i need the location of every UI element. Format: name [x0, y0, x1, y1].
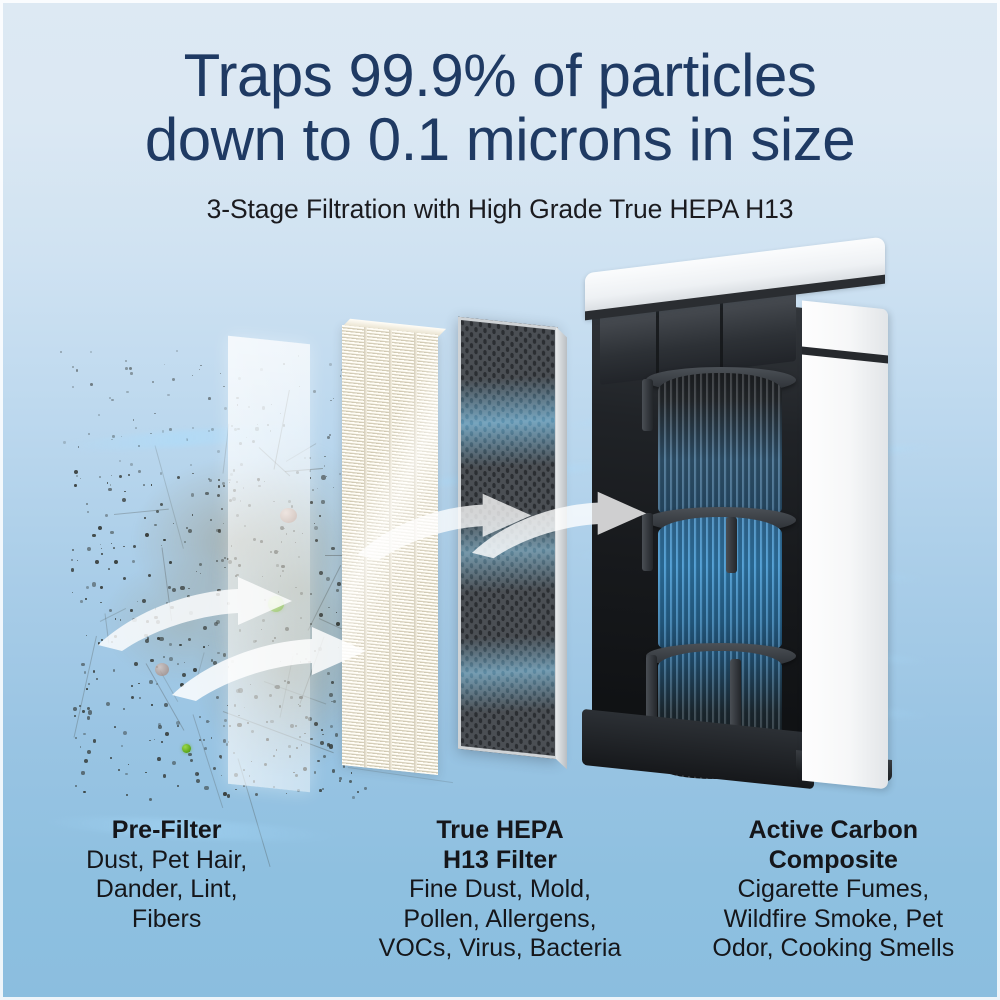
- particle-pollen-small: [182, 744, 191, 753]
- dust-speck: [158, 725, 162, 729]
- dust-speck: [130, 372, 132, 374]
- dust-speck: [126, 794, 128, 796]
- fan-section-middle: [658, 517, 782, 657]
- dust-speck: [95, 560, 99, 564]
- dust-speck: [192, 473, 193, 474]
- dust-speck: [184, 541, 186, 543]
- dust-speck: [167, 394, 170, 397]
- dust-speck: [314, 523, 315, 524]
- dust-speck: [149, 680, 153, 684]
- fan-blades: [658, 517, 782, 657]
- caption-title: Pre-Filter: [6, 816, 327, 845]
- dust-speck: [114, 726, 116, 728]
- dust-speck: [138, 470, 141, 473]
- dust-speck: [196, 571, 197, 572]
- dust-speck: [151, 484, 153, 486]
- dust-speck: [333, 398, 334, 399]
- dust-speck: [335, 733, 338, 736]
- dust-speck: [326, 577, 330, 581]
- dust-speck: [100, 544, 101, 545]
- dust-speck: [74, 715, 76, 717]
- dust-speck: [324, 456, 325, 457]
- caption-title: True HEPA H13 Filter: [339, 816, 660, 875]
- dust-speck: [364, 787, 366, 789]
- dust-speck: [190, 759, 193, 762]
- headline-block: Traps 99.9% of particles down to 0.1 mic…: [0, 44, 1000, 225]
- dust-speck: [87, 716, 90, 719]
- dust-speck: [339, 780, 341, 782]
- dust-speck: [85, 598, 86, 599]
- dust-speck: [317, 760, 319, 762]
- stage-captions: Pre-Filter Dust, Pet Hair, Dander, Lint,…: [0, 816, 1000, 964]
- product-infographic: Traps 99.9% of particles down to 0.1 mic…: [0, 0, 1000, 1000]
- dust-speck: [312, 489, 314, 491]
- page-subtitle: 3-Stage Filtration with High Grade True …: [0, 194, 1000, 225]
- dust-speck: [319, 571, 323, 575]
- dust-speck: [86, 688, 88, 690]
- dust-speck: [108, 568, 110, 570]
- dust-speck: [177, 476, 180, 479]
- dust-speck: [90, 383, 93, 386]
- dust-speck: [321, 500, 324, 503]
- dust-speck: [323, 755, 326, 758]
- dust-speck: [321, 475, 325, 479]
- dust-speck: [327, 436, 330, 439]
- dust-speck: [158, 723, 161, 726]
- dust-speck: [210, 519, 212, 521]
- dust-speck: [154, 524, 156, 526]
- dust-speck: [72, 549, 74, 551]
- dust-speck: [134, 662, 138, 666]
- dust-speck: [224, 719, 227, 722]
- dust-speck: [211, 737, 212, 738]
- caption-pre-filter: Pre-Filter Dust, Pet Hair, Dander, Lint,…: [0, 816, 333, 964]
- dust-speck: [351, 772, 353, 774]
- dust-speck: [319, 789, 322, 792]
- particle-lint: [155, 663, 169, 676]
- dust-speck: [163, 774, 167, 778]
- dust-speck: [336, 589, 338, 591]
- dust-speck: [333, 487, 334, 488]
- dust-speck: [222, 482, 225, 485]
- caption-true-hepa-h13-filter: True HEPA H13 Filter Fine Dust, Mold, Po…: [333, 816, 666, 964]
- dust-speck: [113, 669, 115, 671]
- dust-speck: [154, 739, 155, 740]
- dust-speck: [144, 517, 146, 519]
- dust-speck: [92, 534, 95, 537]
- dust-speck: [320, 741, 324, 745]
- dust-speck: [200, 365, 201, 366]
- dust-speck: [331, 547, 335, 551]
- duct-divider: [720, 300, 723, 370]
- dust-speck: [310, 593, 312, 595]
- dust-speck: [208, 478, 210, 480]
- dust-speck: [139, 697, 141, 699]
- dust-speck: [322, 788, 324, 790]
- mount-post: [642, 379, 653, 431]
- dust-speck: [209, 721, 210, 722]
- dust-speck: [188, 529, 192, 533]
- fan-blades: [658, 373, 782, 523]
- dust-speck: [217, 450, 220, 453]
- dust-speck: [199, 716, 201, 718]
- dust-speck: [357, 791, 359, 793]
- dust-speck: [322, 734, 324, 736]
- dust-speck: [128, 764, 129, 765]
- caption-title: Active Carbon Composite: [673, 816, 994, 875]
- dust-speck: [76, 369, 78, 371]
- dust-speck: [218, 485, 220, 487]
- dust-speck: [125, 773, 127, 775]
- dust-speck: [218, 479, 220, 481]
- pre-filter-panel: [228, 336, 310, 793]
- mount-post: [726, 517, 737, 573]
- caption-body: Cigarette Fumes, Wildfire Smoke, Pet Odo…: [673, 875, 994, 964]
- dust-speck: [125, 367, 128, 370]
- dust-speck: [101, 553, 102, 554]
- dust-speck: [217, 494, 220, 497]
- dust-speck: [223, 523, 224, 524]
- dust-speck: [150, 659, 154, 663]
- dust-speck: [123, 546, 124, 547]
- dust-speck: [223, 485, 225, 487]
- dust-speck: [74, 484, 77, 487]
- dust-speck: [163, 656, 165, 658]
- caption-active-carbon-composite: Active Carbon Composite Cigarette Fumes,…: [667, 816, 1000, 964]
- airflow-arrow-2: [170, 625, 370, 703]
- dust-speck: [81, 663, 84, 666]
- dust-speck: [81, 771, 84, 774]
- dust-speck: [332, 769, 336, 773]
- dust-speck: [130, 463, 133, 466]
- dust-speck: [310, 501, 313, 504]
- dust-speck: [80, 600, 83, 603]
- dust-speck: [133, 545, 136, 548]
- dust-speck: [339, 473, 341, 475]
- dust-speck: [143, 484, 145, 486]
- dust-speck: [321, 729, 323, 731]
- caption-body: Dust, Pet Hair, Dander, Lint, Fibers: [6, 846, 327, 935]
- dust-speck: [83, 791, 85, 793]
- dust-speck: [131, 696, 134, 699]
- fan-section-top: [658, 373, 782, 523]
- dust-speck: [111, 475, 112, 476]
- dust-speck: [108, 488, 111, 491]
- dust-speck: [329, 434, 331, 436]
- dust-speck: [324, 465, 325, 466]
- dust-speck: [149, 798, 152, 801]
- dust-speck: [192, 427, 194, 429]
- dust-speck: [165, 732, 169, 736]
- dust-speck: [123, 708, 125, 710]
- duct-divider: [656, 308, 659, 378]
- dust-speck: [327, 743, 330, 746]
- dust-speck: [160, 503, 163, 506]
- dust-speck: [329, 363, 332, 366]
- dust-speck: [88, 433, 90, 435]
- dust-speck: [88, 683, 90, 685]
- dust-speck: [84, 759, 88, 763]
- dust-speck: [223, 386, 225, 388]
- dust-speck: [87, 750, 91, 754]
- purifier-side-panel: [802, 300, 888, 789]
- dust-speck: [99, 476, 101, 478]
- dust-speck: [163, 539, 165, 541]
- mount-post: [646, 655, 657, 725]
- caption-body: Fine Dust, Mold, Pollen, Allergens, VOCs…: [339, 875, 660, 964]
- dust-speck: [105, 514, 108, 517]
- page-title: Traps 99.9% of particles down to 0.1 mic…: [0, 44, 1000, 172]
- dust-speck: [132, 560, 135, 563]
- dust-speck: [319, 515, 320, 516]
- dust-speck: [208, 397, 211, 400]
- dust-speck: [135, 427, 137, 429]
- dust-speck: [82, 710, 84, 712]
- dust-speck: [221, 508, 223, 510]
- dust-speck: [88, 710, 92, 714]
- mount-post: [730, 659, 741, 731]
- airflow-arrow-4: [470, 490, 650, 560]
- dust-speck: [151, 704, 152, 705]
- dust-speck: [72, 366, 74, 368]
- dust-speck: [191, 493, 194, 496]
- dust-speck: [119, 460, 121, 462]
- dust-speck: [111, 399, 114, 402]
- dust-speck: [123, 731, 127, 735]
- dust-speck: [93, 670, 96, 673]
- dust-speck: [223, 725, 225, 727]
- dust-speck: [352, 796, 355, 799]
- dust-speck: [337, 582, 341, 586]
